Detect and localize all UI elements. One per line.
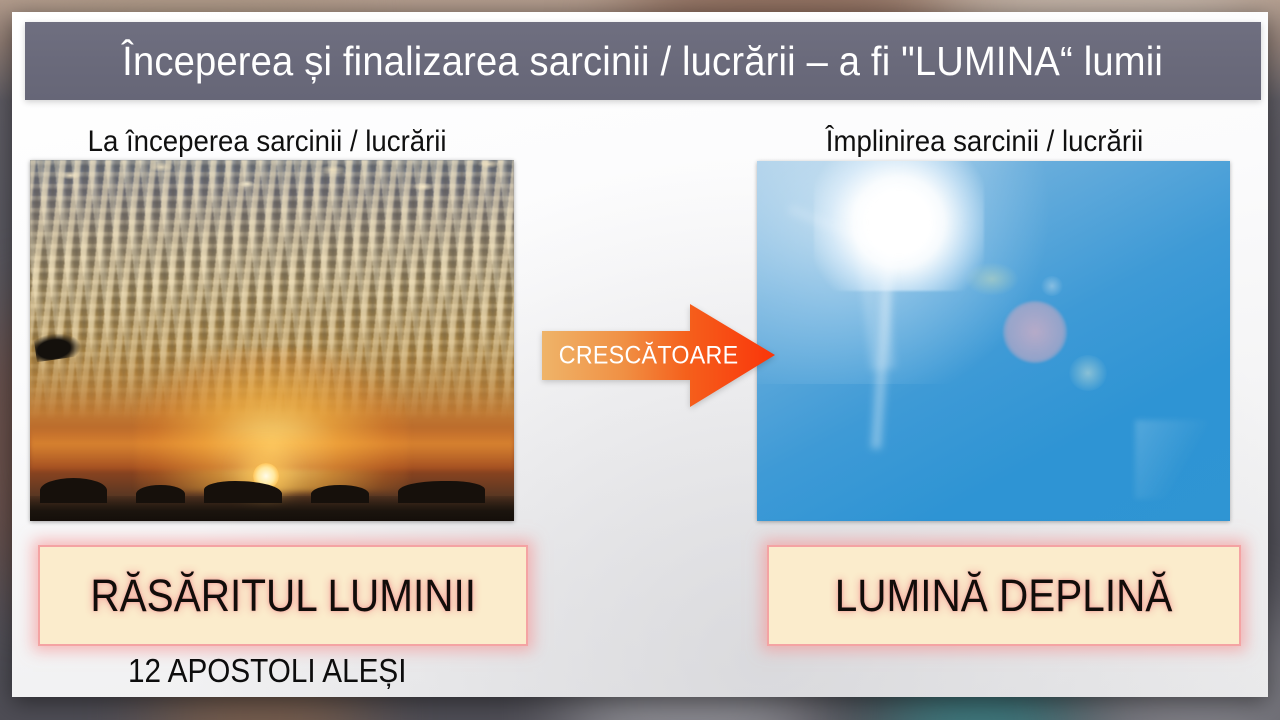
sunrise-photo — [30, 160, 514, 521]
sun-disc — [814, 161, 984, 291]
tree-silhouette — [40, 478, 108, 503]
slide-title-bar: Începerea și finalizarea sarcinii / lucr… — [25, 22, 1261, 100]
tree-silhouette — [204, 481, 281, 503]
tree-silhouette — [311, 485, 369, 503]
slide-viewer: Începerea și finalizarea sarcinii / lucr… — [0, 0, 1280, 720]
lens-flare — [1003, 301, 1067, 363]
progression-arrow: CRESCĂTOARE — [542, 298, 777, 413]
left-column-heading: La începerea sarcinii / lucrării — [88, 125, 447, 159]
tree-silhouette — [136, 485, 184, 503]
left-caption-box: RĂSĂRITUL LUMINII — [38, 545, 528, 646]
blue-sky-photo — [757, 161, 1230, 521]
right-column-heading: Împlinirea sarcinii / lucrării — [826, 125, 1143, 159]
right-caption-box: LUMINĂ DEPLINĂ — [767, 545, 1241, 646]
presentation-slide: Începerea și finalizarea sarcinii / lucr… — [12, 12, 1268, 697]
tree-silhouette — [398, 481, 485, 503]
left-footnote: 12 APOSTOLI ALEȘI — [128, 652, 406, 690]
page-title: Începerea și finalizarea sarcinii / lucr… — [123, 41, 1164, 82]
cloud-wisp — [1135, 420, 1220, 499]
arrow-label: CRESCĂTOARE — [559, 341, 739, 370]
lens-flare — [1041, 276, 1063, 296]
lens-flare — [965, 262, 1019, 296]
right-caption-text: LUMINĂ DEPLINĂ — [835, 570, 1173, 622]
left-caption-text: RĂSĂRITUL LUMINII — [90, 570, 476, 622]
